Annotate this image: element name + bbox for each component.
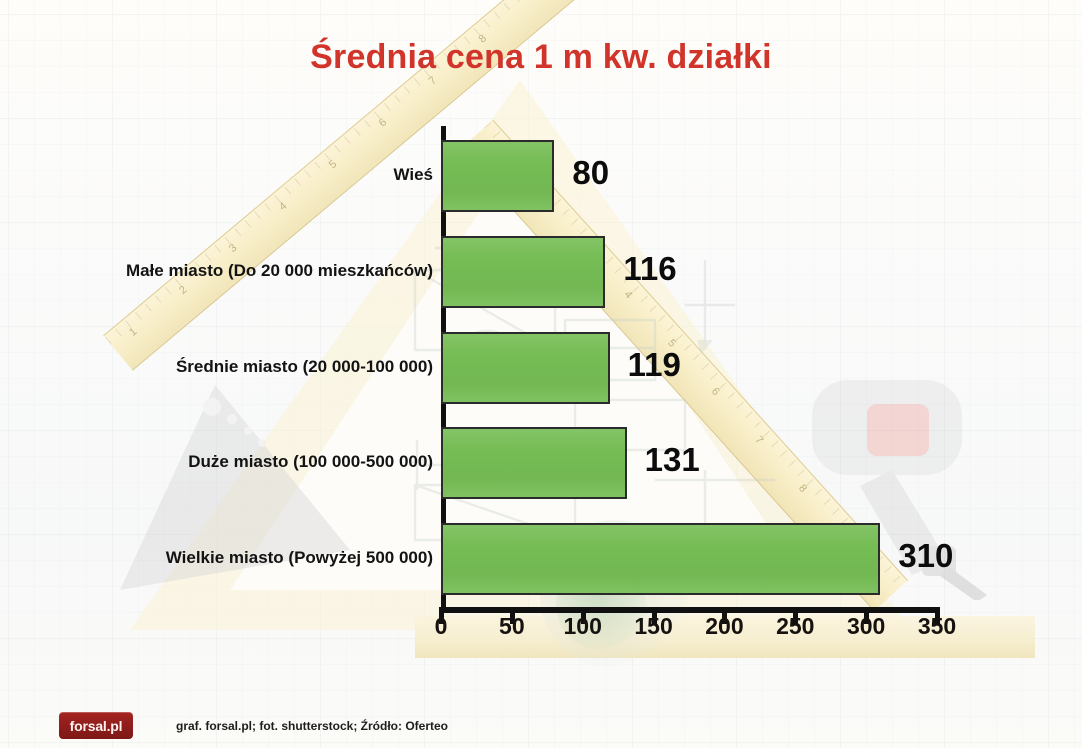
category-label: Wielkie miasto (Powyżej 500 000) <box>166 548 433 568</box>
bar-row: Wieś80 <box>0 140 1082 212</box>
bar[interactable] <box>441 523 880 595</box>
x-axis-tick-label: 350 <box>902 613 972 640</box>
bar[interactable] <box>441 332 610 404</box>
x-axis-tick-label: 200 <box>689 613 759 640</box>
bar-sheen <box>443 525 878 593</box>
bar[interactable] <box>441 427 627 499</box>
category-label: Duże miasto (100 000-500 000) <box>188 452 433 472</box>
bar[interactable] <box>441 140 554 212</box>
bar[interactable] <box>441 236 605 308</box>
bar-row: Małe miasto (Do 20 000 mieszkańców)116 <box>0 236 1082 308</box>
credit-text: graf. forsal.pl; fot. shutterstock; Źród… <box>176 719 448 733</box>
bar-value-label: 80 <box>572 154 609 192</box>
category-label: Wieś <box>393 165 433 185</box>
category-label: Średnie miasto (20 000-100 000) <box>176 357 433 377</box>
category-label: Małe miasto (Do 20 000 mieszkańców) <box>126 261 433 281</box>
forsal-logo[interactable]: forsal.pl <box>59 712 133 739</box>
bar-value-label: 131 <box>645 441 700 479</box>
x-axis-tick-label: 50 <box>477 613 547 640</box>
x-axis-tick-label: 250 <box>760 613 830 640</box>
infographic-page: 1 2 3 4 5 6 7 8 1 2 3 4 5 6 7 8 <box>0 0 1082 748</box>
bar-sheen <box>443 334 608 402</box>
bar-row: Średnie miasto (20 000-100 000)119 <box>0 332 1082 404</box>
bar-sheen <box>443 429 625 497</box>
bar-value-label: 119 <box>628 346 681 384</box>
x-axis-tick-label: 150 <box>619 613 689 640</box>
bar-value-label: 310 <box>898 537 953 575</box>
bar-value-label: 116 <box>623 250 676 288</box>
x-axis-tick-label: 300 <box>831 613 901 640</box>
forsal-logo-text: forsal.pl <box>70 718 123 734</box>
bar-row: Duże miasto (100 000-500 000)131 <box>0 427 1082 499</box>
bar-chart: 050100150200250300350 Wieś80Małe miasto … <box>0 0 1082 700</box>
x-axis-tick-label: 100 <box>548 613 618 640</box>
x-axis-tick-label: 0 <box>406 613 476 640</box>
bar-sheen <box>443 238 603 306</box>
bar-row: Wielkie miasto (Powyżej 500 000)310 <box>0 523 1082 595</box>
bar-sheen <box>443 142 552 210</box>
